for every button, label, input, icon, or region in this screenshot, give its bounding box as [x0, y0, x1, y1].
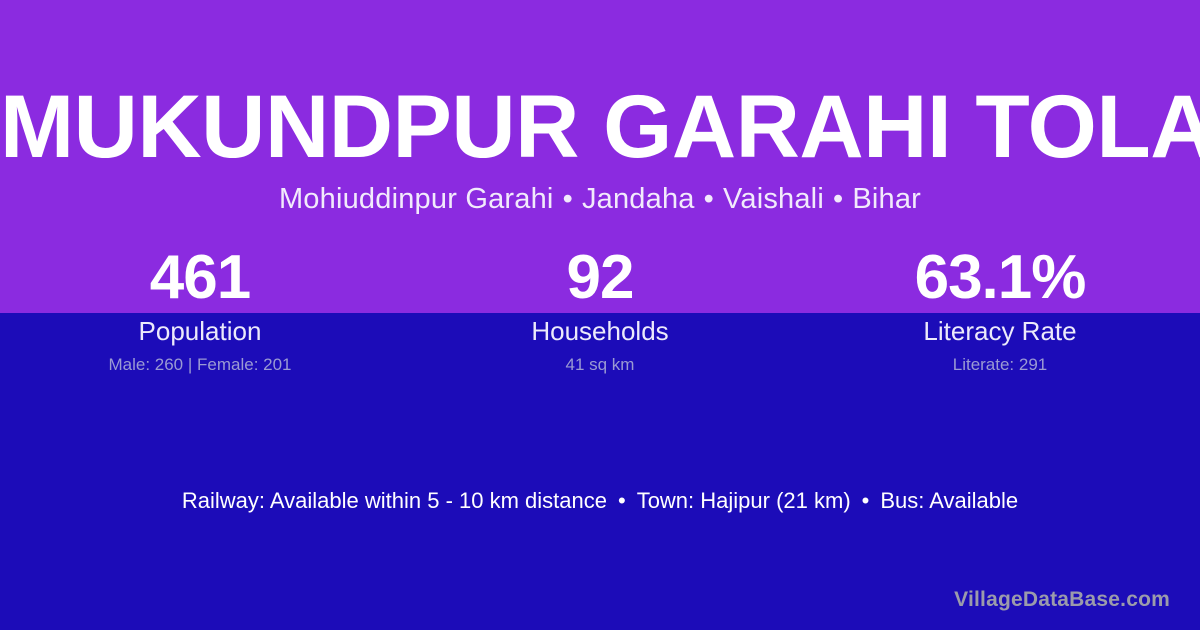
amenity-bus: Bus: Available: [880, 488, 1018, 513]
page-title: MUKUNDPUR GARAHI TOLA HADHUA: [0, 78, 1200, 174]
site-brand: VillageDataBase.com: [954, 587, 1170, 613]
amenity-town: Town: Hajipur (21 km): [637, 488, 851, 513]
stat-label: Households: [400, 315, 800, 347]
stat-sublabel: Male: 260 | Female: 201: [0, 354, 400, 376]
breadcrumb-separator: •: [695, 183, 723, 215]
stat-value: 461: [0, 243, 400, 313]
page-title-container: MUKUNDPUR GARAHI TOLA HADHUA: [0, 78, 1200, 174]
stat-value: 63.1%: [800, 243, 1200, 313]
village-info-card: MUKUNDPUR GARAHI TOLA HADHUA Mohiuddinpu…: [0, 0, 1200, 630]
breadcrumb-item-village: Mohiuddinpur Garahi: [279, 183, 554, 215]
breadcrumb-item-state: Bihar: [852, 183, 921, 215]
stat-label: Literacy Rate: [800, 315, 1200, 347]
stat-households: 92 Households 41 sq km: [400, 243, 800, 376]
breadcrumb-separator: •: [554, 183, 582, 215]
stat-population: 461 Population Male: 260 | Female: 201: [0, 243, 400, 376]
breadcrumb-container: Mohiuddinpur Garahi•Jandaha•Vaishali•Bih…: [0, 180, 1200, 218]
stat-literacy-rate: 63.1% Literacy Rate Literate: 291: [800, 243, 1200, 376]
breadcrumb-item-block: Jandaha: [582, 183, 695, 215]
breadcrumb-item-district: Vaishali: [723, 183, 824, 215]
breadcrumb: Mohiuddinpur Garahi•Jandaha•Vaishali•Bih…: [279, 183, 921, 215]
stat-value: 92: [400, 243, 800, 313]
amenity-separator: •: [851, 488, 881, 513]
breadcrumb-separator: •: [824, 183, 852, 215]
stats-row: 461 Population Male: 260 | Female: 201 9…: [0, 243, 1200, 376]
stat-sublabel: 41 sq km: [400, 354, 800, 376]
amenity-separator: •: [607, 488, 637, 513]
amenities-line: Railway: Available within 5 - 10 km dist…: [0, 486, 1200, 516]
amenity-railway: Railway: Available within 5 - 10 km dist…: [182, 488, 607, 513]
stat-label: Population: [0, 315, 400, 347]
stat-sublabel: Literate: 291: [800, 354, 1200, 376]
